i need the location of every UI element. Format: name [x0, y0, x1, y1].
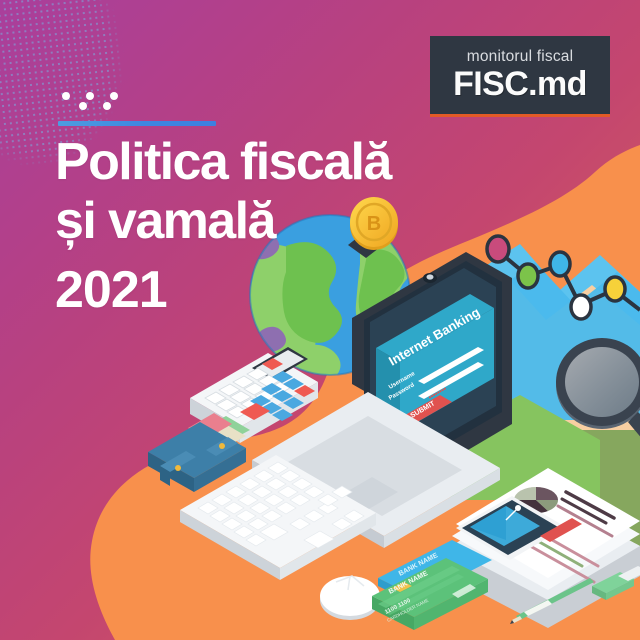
marker-dot — [518, 264, 538, 288]
headline-line-1: Politica fiscală — [55, 136, 475, 189]
marker-dot — [550, 252, 570, 276]
mouse — [320, 576, 380, 620]
page-title: Politica fiscală și vamală 2021 — [55, 136, 475, 317]
brand-logo[interactable]: monitorul fiscal FISC.md — [430, 36, 610, 114]
logo-main-text: FISC.md — [453, 67, 587, 101]
marker-dot — [605, 277, 625, 301]
marker-dot — [487, 236, 509, 262]
decorative-dots — [62, 92, 122, 114]
divider-rule — [58, 121, 216, 126]
poster-canvas: B — [0, 0, 640, 640]
disc-shadow — [494, 493, 546, 519]
bank-cards: BANK NAME BANK NAME 1100 1100 CARDHOLDER… — [372, 540, 492, 630]
headline-line-2: și vamală — [55, 195, 475, 248]
headline-year: 2021 — [55, 264, 475, 317]
logo-top-text: monitorul fiscal — [467, 49, 574, 65]
marker-dot — [571, 295, 591, 319]
